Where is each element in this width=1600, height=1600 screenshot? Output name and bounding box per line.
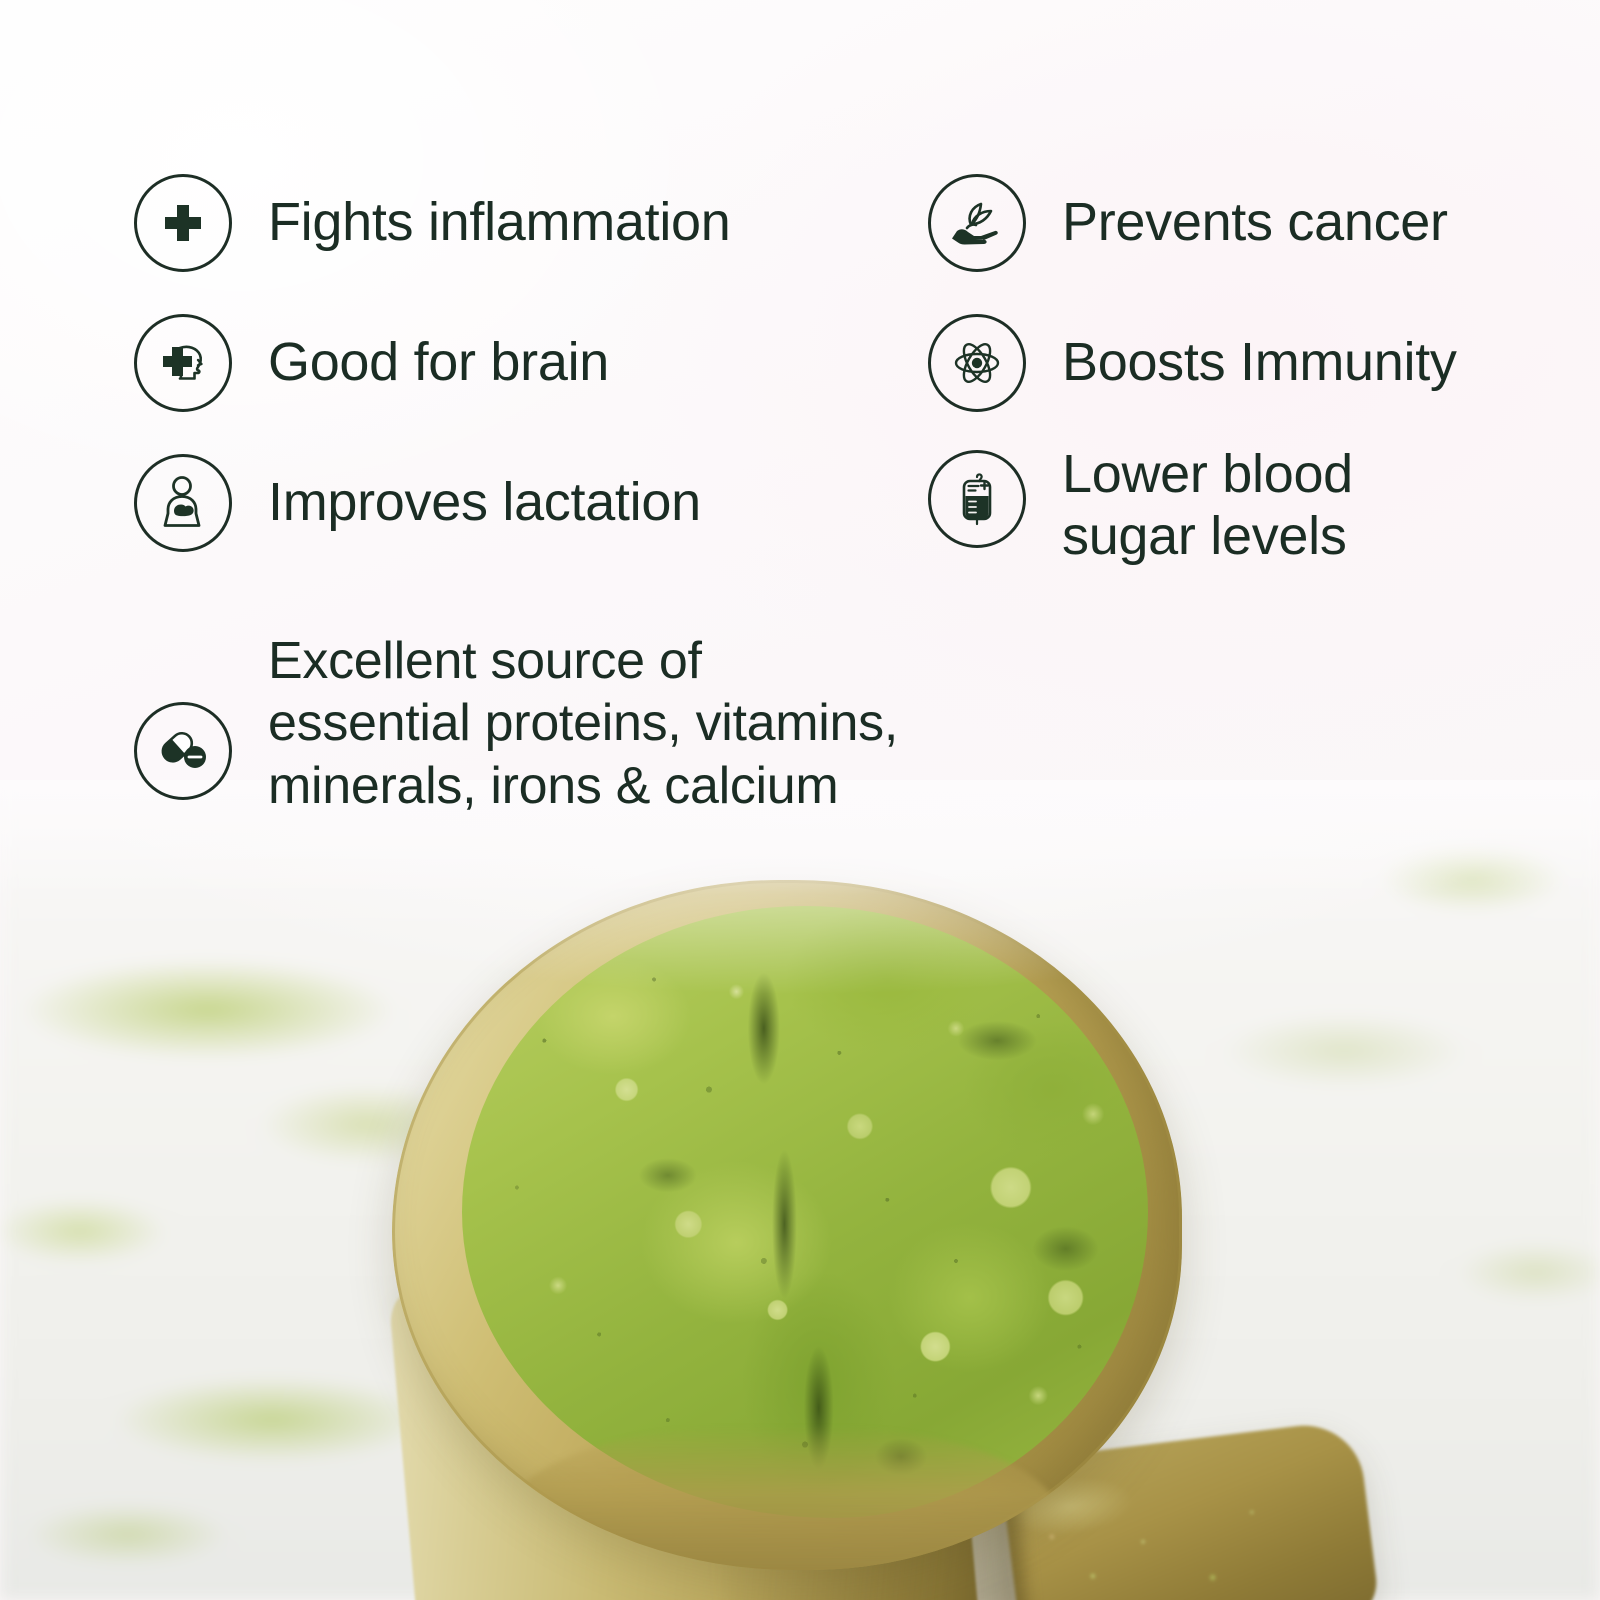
mother-baby-icon xyxy=(134,454,232,552)
benefit-label: Boosts Immunity xyxy=(1062,332,1457,394)
benefit-item-prevents-cancer: Prevents cancer xyxy=(928,174,1448,272)
wooden-scoop xyxy=(392,880,1182,1600)
benefit-label: Fights inflammation xyxy=(268,192,730,254)
product-benefits-graphic: Fights inflammation Good for brain xyxy=(0,0,1600,1600)
benefit-item-good-for-brain: Good for brain xyxy=(134,314,609,412)
matcha-scoop-photo xyxy=(0,780,1600,1600)
benefits-list: Fights inflammation Good for brain xyxy=(0,0,1600,860)
benefit-label: Prevents cancer xyxy=(1062,192,1448,254)
benefit-item-excellent-source: Excellent source of essential proteins, … xyxy=(134,630,898,817)
benefit-label: Excellent source of essential proteins, … xyxy=(268,630,898,817)
benefit-label: Good for brain xyxy=(268,332,609,394)
atom-icon xyxy=(928,314,1026,412)
pills-icon xyxy=(134,702,232,800)
benefit-label: Lower blood sugar levels xyxy=(1062,444,1353,567)
benefit-item-fights-inflammation: Fights inflammation xyxy=(134,174,730,272)
benefit-item-lower-blood-sugar: Lower blood sugar levels xyxy=(928,450,1353,567)
hand-leaf-icon xyxy=(928,174,1026,272)
head-profile-cross-icon xyxy=(134,314,232,412)
scoop-bowl xyxy=(392,880,1182,1570)
benefit-item-improves-lactation: Improves lactation xyxy=(134,454,701,552)
benefit-item-boosts-immunity: Boosts Immunity xyxy=(928,314,1457,412)
medical-cross-icon xyxy=(134,174,232,272)
benefit-label: Improves lactation xyxy=(268,472,701,534)
iv-blood-bag-icon xyxy=(928,450,1026,548)
